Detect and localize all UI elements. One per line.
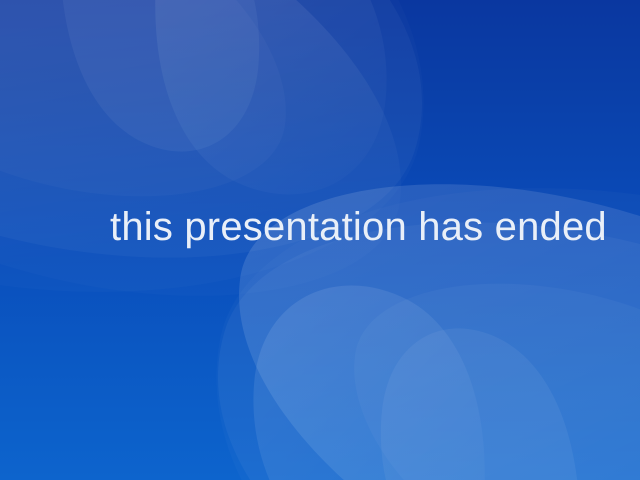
swoosh-shape-inner-ring-top (0, 0, 286, 196)
swoosh-shape-lobe-top (155, 0, 386, 194)
slide-headline: this presentation has ended (110, 203, 607, 251)
swoosh-shape-lobe-bottom (253, 286, 484, 480)
swoosh-shape-lobe-secondary-bottom (381, 328, 580, 480)
swoosh-shape-lobe-secondary-top (60, 0, 259, 152)
swoosh-shape-sweep-bottom (218, 222, 640, 480)
swoosh-shape-outer-top (0, 0, 401, 296)
swoosh-shape-inner-ring-bottom (354, 284, 640, 480)
top-left-swoosh-cluster (0, 0, 424, 296)
presentation-slide: this presentation has ended (0, 0, 640, 480)
